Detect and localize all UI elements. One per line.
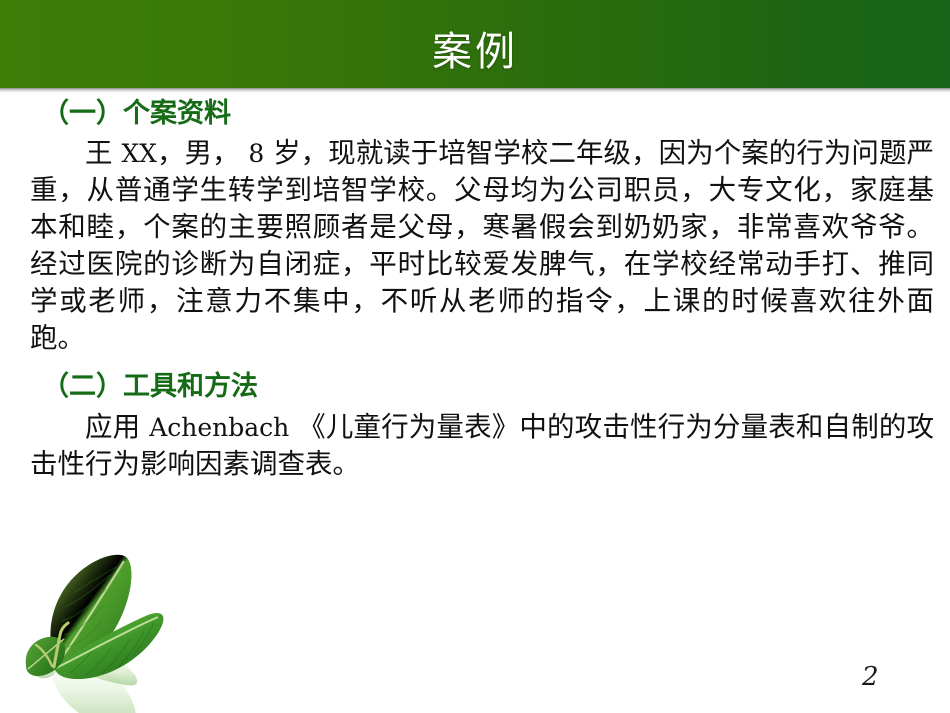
paragraph-mid-text: ，男， <box>157 137 248 169</box>
slide-content: （一）个案资料 王 XX，男， 8 岁，现就读于培智学校二年级，因为个案的行为问… <box>0 96 950 483</box>
paragraph-lead-text: 王 <box>85 137 121 169</box>
paragraph-latin-name: XX <box>121 139 157 168</box>
leaf-decoration-icon <box>8 543 208 713</box>
paragraph-tail-text: 岁，现就读于培智学校二年级，因为个案的行为问题严重，从普通学生转学到培智学校。父… <box>30 137 934 354</box>
paragraph2-latin-scale: Achenbach <box>149 413 289 442</box>
paragraph2-lead-text: 应用 <box>85 411 149 443</box>
section-heading-case-data: （一）个案资料 <box>0 96 950 132</box>
paragraph-latin-age: 8 <box>248 139 264 168</box>
section-heading-tools-methods: （二）工具和方法 <box>0 369 950 405</box>
title-band-shadow <box>0 88 950 94</box>
page-number: 2 <box>862 662 879 692</box>
paragraph-tools-methods: 应用 Achenbach 《儿童行为量表》中的攻击性行为分量表和自制的攻击性行为… <box>0 406 950 483</box>
slide-canvas: 案例 （一）个案资料 王 XX，男， 8 岁，现就读于培智学校二年级，因为个案的… <box>0 0 950 713</box>
paragraph-case-data: 王 XX，男， 8 岁，现就读于培智学校二年级，因为个案的行为问题严重，从普通学… <box>0 132 950 357</box>
page-title: 案例 <box>0 0 950 88</box>
